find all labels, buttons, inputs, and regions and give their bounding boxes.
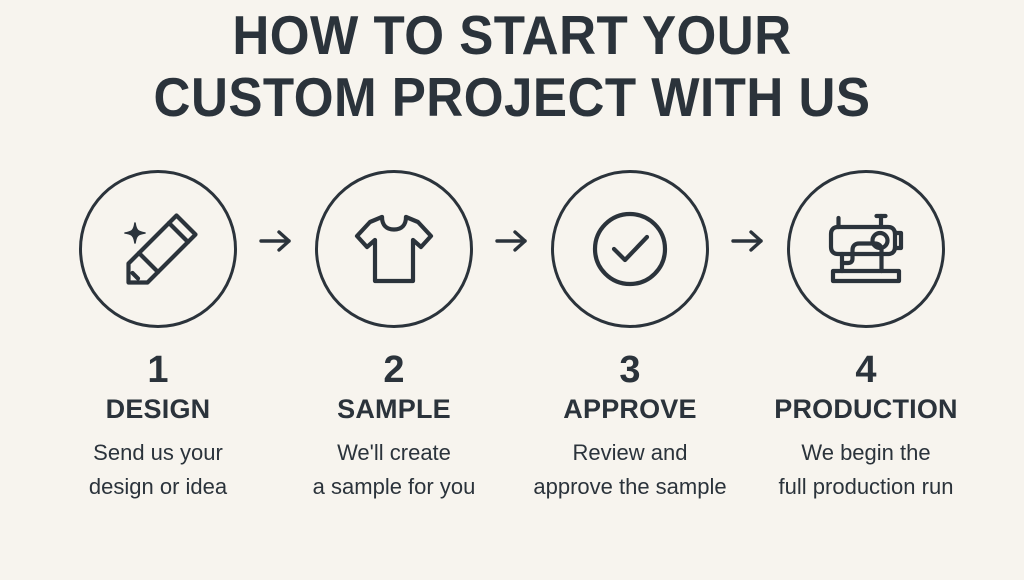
arrow-connector-1 <box>256 170 296 254</box>
arrow-right-icon <box>494 228 530 254</box>
step-label-approve: APPROVE <box>563 394 696 424</box>
page-title-line-2: CUSTOM PROJECT WITH US <box>36 66 988 128</box>
step-label-production: PRODUCTION <box>774 394 958 424</box>
step-icon-circle-sample <box>315 170 473 328</box>
step-number-sample: 2 <box>383 350 404 390</box>
arrow-connector-3 <box>728 170 768 254</box>
check-circle-icon <box>582 201 678 297</box>
step-number-design: 1 <box>147 350 168 390</box>
step-description-line-2: approve the sample <box>533 470 726 504</box>
pencil-sparkle-icon <box>110 201 206 297</box>
step-icon-circle-production <box>787 170 945 328</box>
step-item-production[interactable]: 4 PRODUCTION We begin the full productio… <box>768 170 964 504</box>
step-item-sample[interactable]: 2 SAMPLE We'll create a sample for you <box>296 170 492 504</box>
arrow-right-icon <box>730 228 766 254</box>
page-title: HOW TO START YOUR CUSTOM PROJECT WITH US <box>0 4 1024 128</box>
step-label-design: DESIGN <box>106 394 211 424</box>
sewing-machine-icon <box>818 201 914 297</box>
step-description-line-2: design or idea <box>89 470 227 504</box>
step-description-line-1: Review and <box>533 436 726 470</box>
tshirt-icon <box>346 201 442 297</box>
steps-row: 1 DESIGN Send us your design or idea <box>0 170 1024 504</box>
step-description-line-1: We'll create <box>313 436 476 470</box>
step-description-line-1: We begin the <box>779 436 954 470</box>
step-icon-circle-approve <box>551 170 709 328</box>
infographic-canvas: HOW TO START YOUR CUSTOM PROJECT WITH US <box>0 0 1024 580</box>
page-title-line-1: HOW TO START YOUR <box>36 4 988 66</box>
step-description-line-2: a sample for you <box>313 470 476 504</box>
step-icon-circle-design <box>79 170 237 328</box>
step-description-design: Send us your design or idea <box>89 436 227 504</box>
step-item-design[interactable]: 1 DESIGN Send us your design or idea <box>60 170 256 504</box>
arrow-right-icon <box>258 228 294 254</box>
arrow-connector-2 <box>492 170 532 254</box>
step-description-line-1: Send us your <box>89 436 227 470</box>
step-description-production: We begin the full production run <box>779 436 954 504</box>
step-number-production: 4 <box>855 350 876 390</box>
step-label-sample: SAMPLE <box>337 394 451 424</box>
step-item-approve[interactable]: 3 APPROVE Review and approve the sample <box>532 170 728 504</box>
step-description-sample: We'll create a sample for you <box>313 436 476 504</box>
step-description-approve: Review and approve the sample <box>533 436 726 504</box>
step-number-approve: 3 <box>619 350 640 390</box>
step-description-line-2: full production run <box>779 470 954 504</box>
